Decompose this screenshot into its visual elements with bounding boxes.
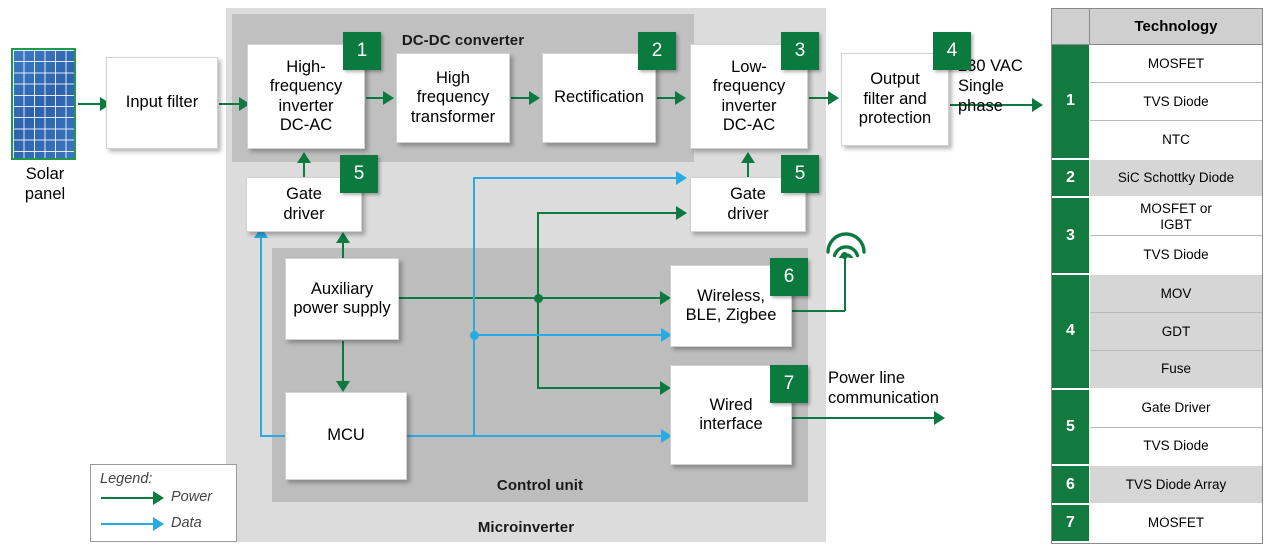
wire-aux-to-mcu — [342, 341, 344, 383]
solar-panel-label: Solar panel — [0, 165, 90, 205]
block-rectification-label: Rectification — [554, 88, 644, 107]
technology-table-header: Technology — [1052, 9, 1262, 45]
technology-group-number: 1 — [1052, 45, 1090, 160]
technology-group-number: 5 — [1052, 390, 1090, 467]
arrowhead-rectification-to-lf-inverter — [675, 91, 686, 105]
block-input-filter-label: Input filter — [126, 93, 198, 112]
badge-4: 4 — [933, 32, 971, 70]
block-gate-driver-right-label: Gate driver — [727, 185, 768, 224]
wifi-antenna-icon — [824, 232, 868, 258]
wire-data-to-gate-driver-right — [473, 177, 683, 179]
technology-group-rows: Gate DriverTVS Diode — [1090, 390, 1262, 467]
region-microinverter-label: Microinverter — [226, 519, 826, 536]
legend-power-line — [101, 497, 157, 499]
wire-wireless-to-antenna — [790, 310, 845, 312]
legend: Legend: Power Data — [90, 464, 237, 542]
technology-group-number: 2 — [1052, 160, 1090, 198]
wire-power-bus-up-to-gate-driver-right — [537, 212, 539, 298]
technology-group-rows: MOSFET or IGBTTVS Diode — [1090, 198, 1262, 275]
technology-group-rows: MOVGDTFuse — [1090, 275, 1262, 390]
technology-group-rows: MOSFETTVS DiodeNTC — [1090, 45, 1262, 160]
wire-antenna-stem — [844, 256, 846, 311]
legend-title: Legend: — [100, 471, 152, 487]
technology-table-header-number — [1052, 9, 1090, 44]
badge-5-left: 5 — [340, 155, 378, 193]
technology-group: 5Gate DriverTVS Diode — [1052, 390, 1262, 467]
wire-power-bus-to-wired-interface — [537, 387, 668, 389]
technology-table-row: MOV — [1090, 275, 1262, 313]
block-mcu[interactable]: MCU — [285, 392, 407, 480]
legend-power-label: Power — [171, 489, 212, 505]
junction-dot-power-bus — [534, 294, 543, 303]
solar-panel-icon — [11, 48, 76, 160]
label-power-line-communication: Power line communication — [828, 369, 1008, 409]
block-input-filter[interactable]: Input filter — [106, 57, 218, 149]
technology-group-rows: MOSFET — [1090, 505, 1262, 543]
technology-table-row: MOSFET — [1090, 45, 1262, 83]
technology-group: 1MOSFETTVS DiodeNTC — [1052, 45, 1262, 160]
badge-1: 1 — [343, 32, 381, 70]
wire-mcu-feedback-riser — [260, 238, 262, 437]
arrowhead-plc-out — [934, 411, 945, 425]
technology-table-row: Fuse — [1090, 351, 1262, 390]
technology-group: 2SiC Schottky Diode — [1052, 160, 1262, 198]
wire-power-bus-down-to-wired — [537, 297, 539, 389]
arrowhead-transformer-to-rectification — [529, 91, 540, 105]
badge-2: 2 — [638, 32, 676, 70]
diagram-canvas: Microinverter DC-DC converter Control un… — [0, 0, 1264, 550]
technology-group-number: 4 — [1052, 275, 1090, 390]
wire-power-bus-to-gate-driver-right — [537, 212, 683, 214]
technology-table-row: MOSFET or IGBT — [1090, 198, 1262, 236]
technology-table-row: GDT — [1090, 313, 1262, 351]
wire-mcu-left-out — [260, 435, 288, 437]
badge-6: 6 — [770, 258, 808, 296]
block-high-frequency-inverter-label: High- frequency inverter DC-AC — [270, 58, 342, 136]
block-high-frequency-transformer[interactable]: High frequency transformer — [396, 53, 510, 143]
block-output-filter-label: Output filter and protection — [859, 70, 931, 128]
technology-table-row: MOSFET — [1090, 505, 1262, 543]
block-gate-driver-left-label: Gate driver — [283, 185, 324, 224]
arrowhead-aux-to-mcu — [336, 381, 350, 392]
technology-table-body: 1MOSFETTVS DiodeNTC2SiC Schottky Diode3M… — [1052, 45, 1262, 543]
badge-3: 3 — [781, 32, 819, 70]
technology-table-row: TVS Diode — [1090, 236, 1262, 275]
technology-group: 7MOSFET — [1052, 505, 1262, 543]
technology-group-number: 3 — [1052, 198, 1090, 275]
technology-group: 3MOSFET or IGBTTVS Diode — [1052, 198, 1262, 275]
block-wired-interface-label: Wired interface — [699, 396, 762, 435]
technology-group-rows: TVS Diode Array — [1090, 466, 1262, 504]
badge-5-right: 5 — [781, 155, 819, 193]
block-low-frequency-inverter-label: Low- frequency inverter DC-AC — [713, 58, 785, 136]
technology-table-row: SiC Schottky Diode — [1090, 160, 1262, 198]
solar-panel-cells — [13, 50, 74, 158]
technology-table-row: TVS Diode Array — [1090, 466, 1262, 504]
technology-table-row: Gate Driver — [1090, 390, 1262, 428]
arrowhead-gate-driver-right-up — [741, 152, 755, 163]
technology-group-number: 7 — [1052, 505, 1090, 543]
junction-dot-data-bus — [470, 331, 479, 340]
technology-group-number: 6 — [1052, 466, 1090, 504]
technology-table-row: TVS Diode — [1090, 83, 1262, 121]
wire-mcu-data-bus — [407, 435, 669, 437]
badge-7: 7 — [770, 365, 808, 403]
arrowhead-aux-to-gate-driver-left — [336, 232, 350, 243]
technology-table-row: TVS Diode — [1090, 428, 1262, 467]
technology-group-rows: SiC Schottky Diode — [1090, 160, 1262, 198]
arrowhead-lf-inverter-to-output-filter — [828, 91, 839, 105]
legend-power-arrow — [153, 491, 164, 505]
technology-group: 6TVS Diode Array — [1052, 466, 1262, 504]
technology-group: 4MOVGDTFuse — [1052, 275, 1262, 390]
wire-data-to-wireless — [473, 334, 669, 336]
arrowhead-gate-driver-left-up — [297, 152, 311, 163]
block-auxiliary-power-supply[interactable]: Auxiliary power supply — [285, 258, 399, 340]
legend-data-arrow — [153, 517, 164, 531]
block-mcu-label: MCU — [327, 426, 365, 445]
technology-table: Technology 1MOSFETTVS DiodeNTC2SiC Schot… — [1051, 8, 1263, 544]
arrowhead-hf-inverter-to-transformer — [383, 91, 394, 105]
block-wireless-label: Wireless, BLE, Zigbee — [686, 287, 777, 326]
arrowhead-data-to-gate-driver-right — [676, 171, 687, 185]
block-auxiliary-power-supply-label: Auxiliary power supply — [293, 280, 390, 319]
legend-data-label: Data — [171, 515, 202, 531]
wire-data-riser — [473, 177, 475, 436]
wire-wired-to-plc — [790, 417, 938, 419]
technology-table-row: NTC — [1090, 121, 1262, 160]
block-high-frequency-transformer-label: High frequency transformer — [411, 69, 495, 127]
label-ac-output: 230 VAC Single phase — [958, 57, 1053, 116]
technology-table-header-label: Technology — [1090, 9, 1262, 44]
legend-data-line — [101, 523, 157, 525]
arrowhead-power-to-gate-driver-right — [676, 206, 687, 220]
